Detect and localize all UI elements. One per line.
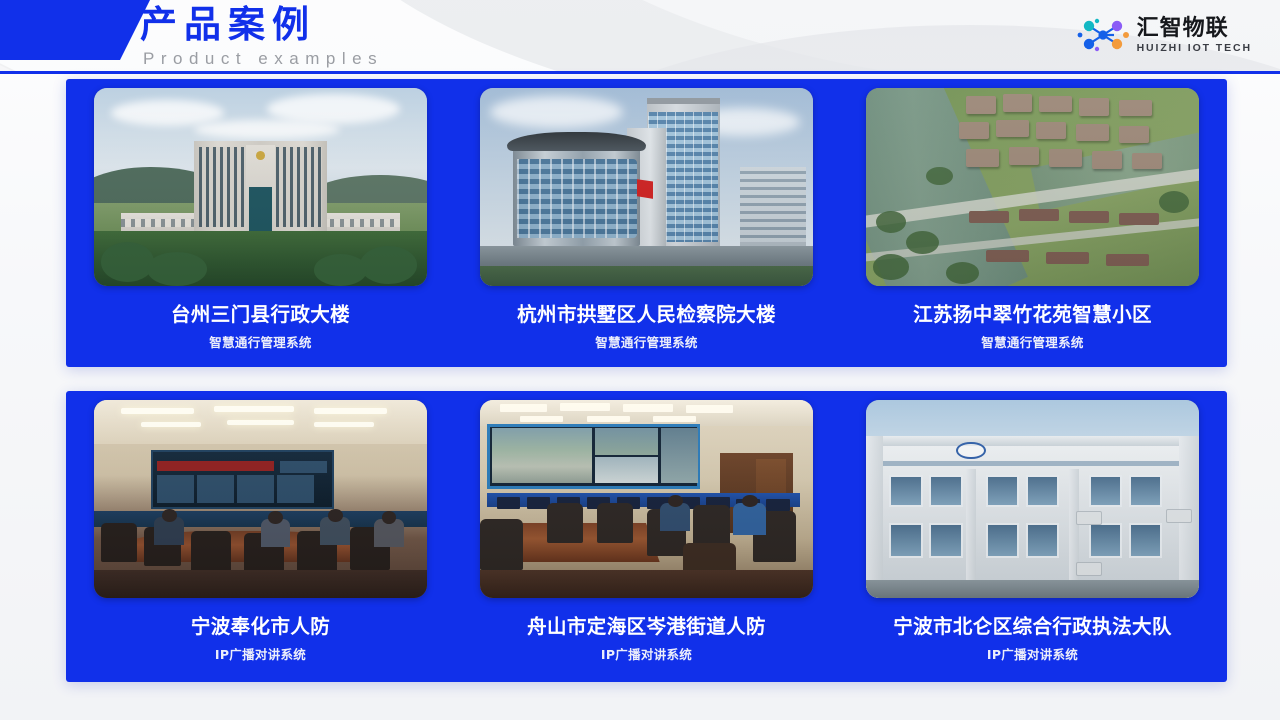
header-accent-underline bbox=[0, 71, 1280, 74]
case-card-subtitle: 智慧通行管理系统 bbox=[595, 334, 697, 351]
case-card-subtitle: 智慧通行管理系统 bbox=[209, 334, 311, 351]
enforcement-building-photo bbox=[866, 400, 1199, 598]
conference-room-photo bbox=[94, 400, 427, 598]
case-card-title: 宁波奉化市人防 bbox=[191, 614, 330, 640]
page-title-group: 产品案例 Product examples bbox=[140, 2, 383, 70]
office-tower-photo bbox=[480, 88, 813, 286]
molecule-network-icon bbox=[1076, 15, 1130, 55]
case-card[interactable]: 宁波市北仑区综合行政执法大队 IP广播对讲系统 bbox=[848, 400, 1217, 682]
aerial-residential-district-photo bbox=[866, 88, 1199, 286]
case-card[interactable]: 台州三门县行政大楼 智慧通行管理系统 bbox=[76, 88, 445, 367]
case-card[interactable]: 舟山市定海区岑港街道人防 IP广播对讲系统 bbox=[462, 400, 831, 682]
case-card[interactable]: 杭州市拱墅区人民检察院大楼 智慧通行管理系统 bbox=[462, 88, 831, 367]
case-card-subtitle: 智慧通行管理系统 bbox=[981, 334, 1083, 351]
government-building-photo bbox=[94, 88, 427, 286]
case-card[interactable]: 宁波奉化市人防 IP广播对讲系统 bbox=[76, 400, 445, 682]
case-card-title: 杭州市拱墅区人民检察院大楼 bbox=[517, 302, 776, 328]
page-subtitle: Product examples bbox=[140, 48, 383, 70]
brand-logo-text: 汇智物联 HUIZHI IOT TECH bbox=[1137, 16, 1252, 55]
page-title: 产品案例 bbox=[140, 2, 383, 48]
case-panel-row-2: 宁波奉化市人防 IP广播对讲系统 bbox=[66, 391, 1227, 682]
case-card[interactable]: 江苏扬中翠竹花苑智慧小区 智慧通行管理系统 bbox=[848, 88, 1217, 367]
brand-name-cn: 汇智物联 bbox=[1137, 16, 1252, 41]
case-card-subtitle: IP广播对讲系统 bbox=[601, 646, 692, 663]
case-card-title: 台州三门县行政大楼 bbox=[171, 302, 350, 328]
control-center-photo bbox=[480, 400, 813, 598]
case-card-subtitle: IP广播对讲系统 bbox=[215, 646, 306, 663]
case-card-title: 宁波市北仑区综合行政执法大队 bbox=[893, 614, 1172, 640]
brand-name-en: HUIZHI IOT TECH bbox=[1137, 41, 1252, 55]
case-card-title: 江苏扬中翠竹花苑智慧小区 bbox=[913, 302, 1152, 328]
case-panel-row-1: 台州三门县行政大楼 智慧通行管理系统 bbox=[66, 79, 1227, 367]
case-card-title: 舟山市定海区岑港街道人防 bbox=[527, 614, 766, 640]
brand-logo[interactable]: 汇智物联 HUIZHI IOT TECH bbox=[1076, 15, 1252, 55]
case-card-subtitle: IP广播对讲系统 bbox=[987, 646, 1078, 663]
